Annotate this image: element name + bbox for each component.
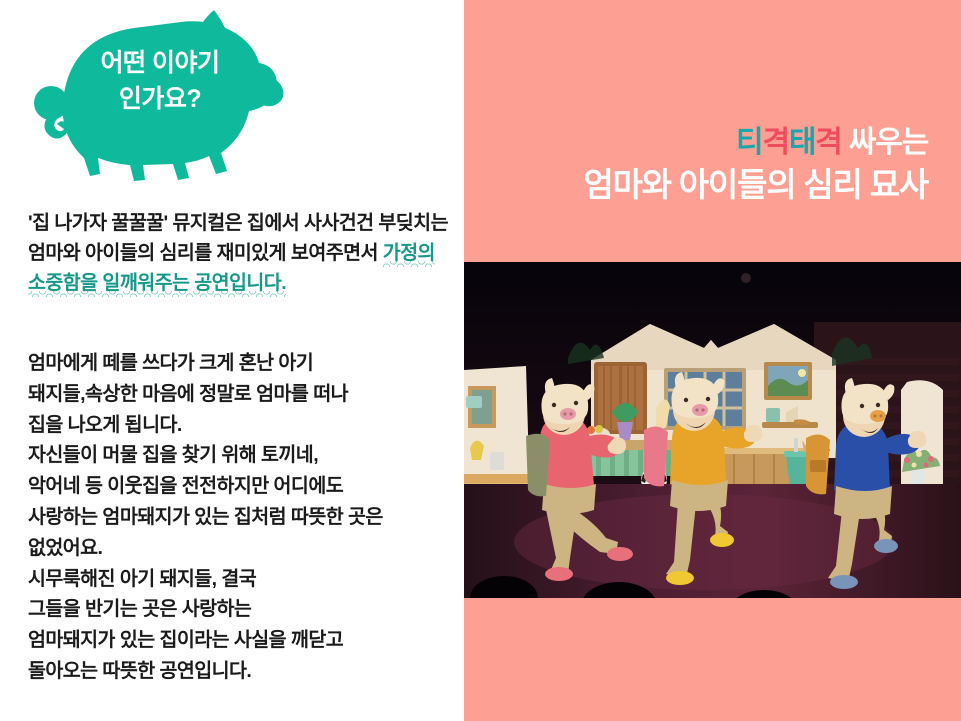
headline-line-2: 엄마와 아이들의 심리 묘사	[583, 163, 928, 207]
lead-paragraph-block: '집 나가자 꿀꿀꿀' 뮤지컬은 집에서 사사건건 부딪치는 엄마와 아이들의 …	[28, 208, 452, 299]
story-body-paragraph: 엄마에게 떼를 쓰다가 크게 혼난 아기 돼지들,속상한 마음에 정말로 엄마를…	[28, 348, 452, 687]
headline-seg-1: 티	[736, 126, 762, 159]
pig-badge: 어떤 이야기 인가요?	[28, 4, 298, 190]
headline-line-1: 티격태격 싸우는	[583, 123, 928, 163]
headline-seg-4: 격	[815, 126, 841, 159]
poster-root: 어떤 이야기 인가요? '집 나가자 꿀꿀꿀' 뮤지컬은 집에서 사사건건 부딪…	[0, 0, 961, 721]
stage-photo-illustration	[464, 262, 961, 598]
lead-paragraph: '집 나가자 꿀꿀꿀' 뮤지컬은 집에서 사사건건 부딪치는 엄마와 아이들의 …	[28, 208, 452, 299]
pig-badge-label: 어떤 이야기 인가요?	[76, 46, 244, 117]
headline-seg-2: 격	[762, 126, 788, 159]
headline-block: 티격태격 싸우는 엄마와 아이들의 심리 묘사	[583, 123, 928, 206]
stage-performance-photo	[464, 262, 961, 598]
left-content-panel: 어떤 이야기 인가요? '집 나가자 꿀꿀꿀' 뮤지컬은 집에서 사사건건 부딪…	[0, 0, 464, 721]
right-highlight-panel: 티격태격 싸우는 엄마와 아이들의 심리 묘사	[464, 0, 961, 721]
headline-seg-3: 태	[789, 126, 815, 159]
headline-seg-5: 싸우는	[842, 126, 928, 159]
